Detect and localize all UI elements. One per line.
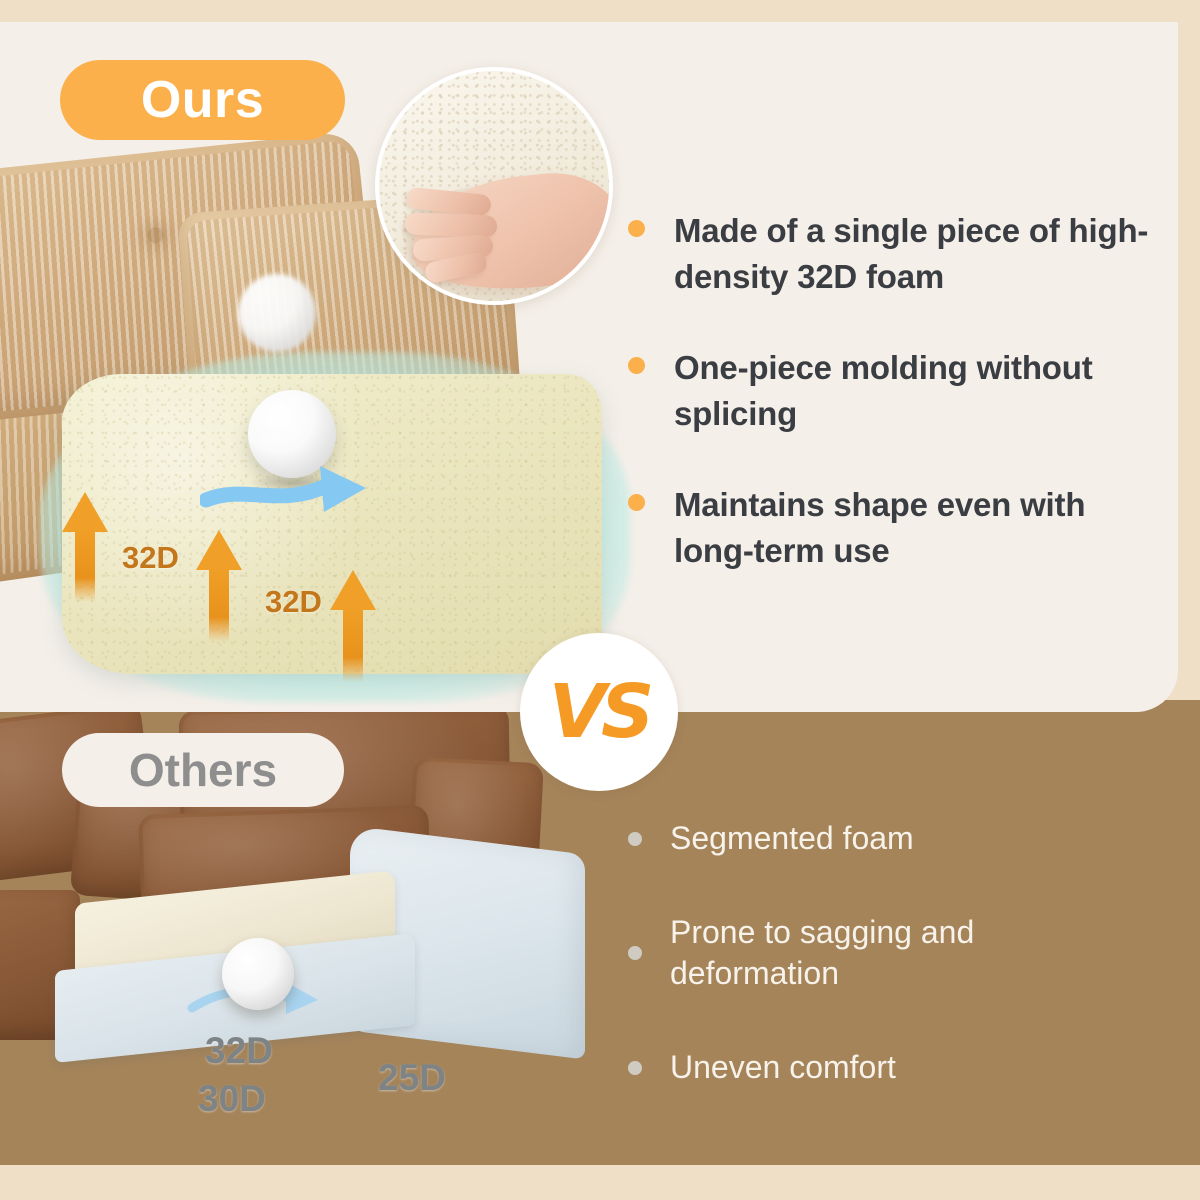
bullet-dot-icon <box>628 832 642 846</box>
support-arrow-1 <box>62 492 108 602</box>
bullet-dot-icon <box>628 220 645 237</box>
vs-badge: VS <box>520 633 678 791</box>
bounce-arrow-ours <box>200 464 400 531</box>
badge-others-label: Others <box>129 743 277 797</box>
badge-ours: Ours <box>60 60 345 140</box>
density-label-32d-others-top: 32D <box>205 1030 273 1072</box>
list-item: Uneven comfort <box>620 1047 1140 1089</box>
bullet-dot-icon <box>628 357 645 374</box>
density-label-32d-right: 32D <box>265 584 322 620</box>
finger-2 <box>405 212 498 237</box>
list-item: Segmented foam <box>620 818 1140 860</box>
bullet-text: Prone to sagging and deformation <box>670 914 974 992</box>
bullet-text: One-piece molding without splicing <box>674 349 1093 432</box>
support-arrow-2 <box>196 530 242 642</box>
bounce-ball-others <box>222 938 294 1010</box>
bullet-text: Made of a single piece of high-density 3… <box>674 212 1148 295</box>
bullet-dot-icon <box>628 494 645 511</box>
infographic-page: 32D 30D 25D 32D 30D 25D <box>0 0 1200 1200</box>
hand-press-inset <box>375 67 613 305</box>
bounce-ball-upper <box>238 274 316 352</box>
list-item: Made of a single piece of high-density 3… <box>622 208 1168 299</box>
list-item: One-piece molding without splicing <box>622 345 1168 436</box>
density-label-32d-left: 32D <box>122 540 179 576</box>
list-item: Prone to sagging and deformation <box>620 912 1140 995</box>
bullet-text: Uneven comfort <box>670 1049 896 1085</box>
list-item: Maintains shape even with long-term use <box>622 482 1168 573</box>
others-bullet-list: Segmented foam Prone to sagging and defo… <box>620 818 1140 1140</box>
density-label-30d-top: 30D <box>198 1078 266 1120</box>
bullet-dot-icon <box>628 946 642 960</box>
badge-ours-label: Ours <box>141 70 264 130</box>
density-label-25d-top: 25D <box>378 1057 446 1099</box>
badge-others: Others <box>62 733 344 807</box>
bullet-dot-icon <box>628 1061 642 1075</box>
support-arrow-3 <box>330 570 376 682</box>
bullet-text: Maintains shape even with long-term use <box>674 486 1085 569</box>
bullet-text: Segmented foam <box>670 820 914 856</box>
vs-label: VS <box>549 675 650 749</box>
ours-bullet-list: Made of a single piece of high-density 3… <box>622 208 1168 619</box>
